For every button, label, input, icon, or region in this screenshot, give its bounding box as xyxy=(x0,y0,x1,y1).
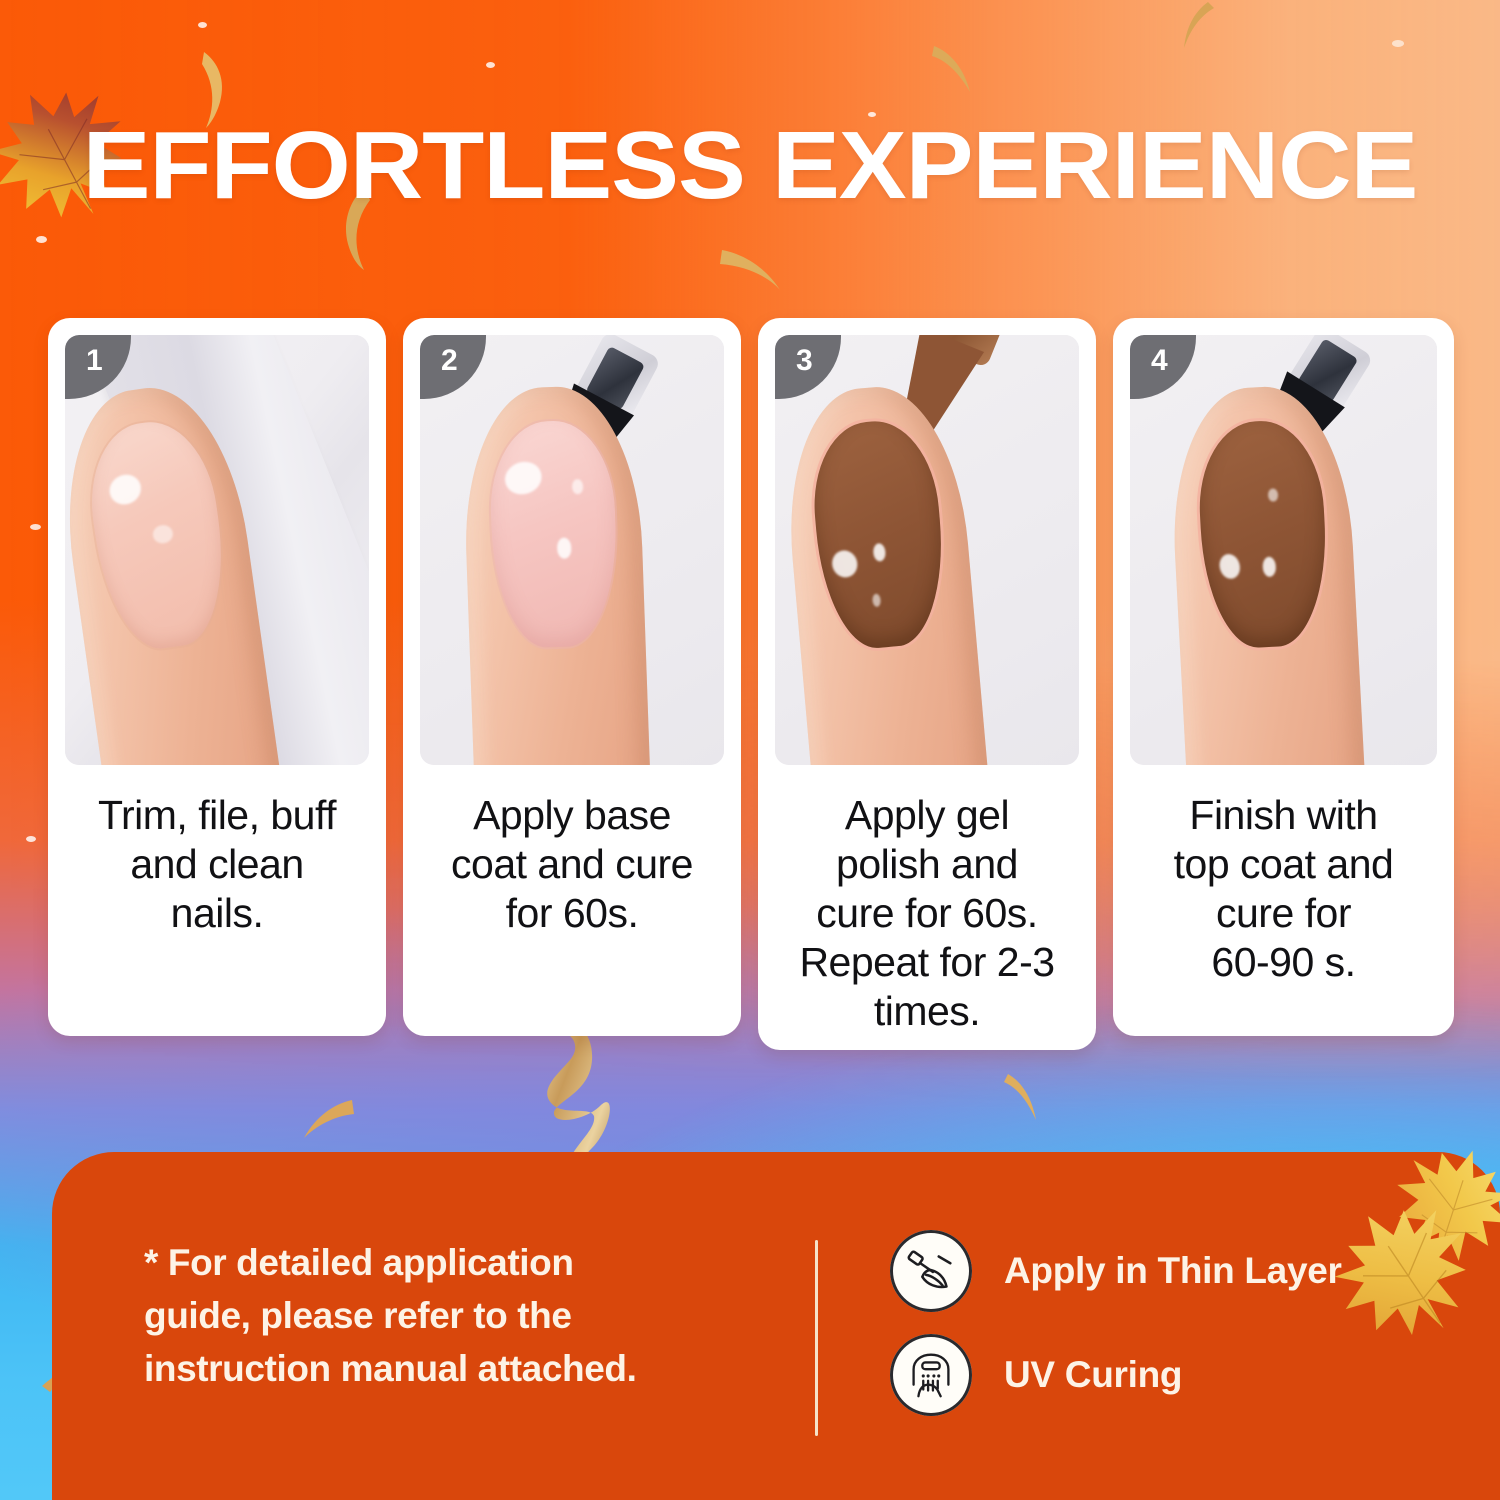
step-caption-1: Trim, file, buff and clean nails. xyxy=(65,791,369,938)
footer-divider xyxy=(815,1240,818,1436)
nail-plate xyxy=(488,418,619,649)
page-title: EFFORTLESS EXPERIENCE xyxy=(0,118,1500,214)
feature-label: UV Curing xyxy=(1004,1354,1182,1396)
nail-plate xyxy=(808,416,951,652)
step-photo-4: 4 xyxy=(1130,335,1437,765)
uv-lamp-icon xyxy=(890,1334,972,1416)
step-photo-3: 3 xyxy=(775,335,1079,765)
photo-scene xyxy=(65,335,369,765)
footer-panel: * For detailed application guide, please… xyxy=(52,1152,1500,1500)
step-caption-2: Apply base coat and cure for 60s. xyxy=(420,791,724,938)
nail-plate xyxy=(1195,417,1331,650)
photo-scene xyxy=(1130,335,1437,765)
step-card-3[interactable]: 3 Apply gel polish and cure for 60s. Rep… xyxy=(758,318,1096,1050)
finger xyxy=(779,380,997,765)
feature-apply-thin-layer: Apply in Thin Layer xyxy=(890,1230,1342,1312)
step-card-2[interactable]: 2 Apply base coat and cure for 60s. xyxy=(403,318,741,1036)
infographic-page: EFFORTLESS EXPERIENCE 1 Trim, file, buff… xyxy=(0,0,1500,1500)
finger xyxy=(1167,382,1370,765)
feature-uv-curing: UV Curing xyxy=(890,1334,1182,1416)
step-photo-2: 2 xyxy=(420,335,724,765)
step-card-1[interactable]: 1 Trim, file, buff and clean nails. xyxy=(48,318,386,1036)
nail-plate xyxy=(81,414,235,655)
photo-scene xyxy=(775,335,1079,765)
step-photo-1: 1 xyxy=(65,335,369,765)
step-card-4[interactable]: 4 Finish with top coat and cure for 60-9… xyxy=(1113,318,1454,1036)
finger xyxy=(460,384,653,765)
thin-layer-brush-icon xyxy=(890,1230,972,1312)
footer-note: * For detailed application guide, please… xyxy=(144,1236,764,1395)
step-caption-4: Finish with top coat and cure for 60-90 … xyxy=(1130,791,1437,987)
photo-scene xyxy=(420,335,724,765)
step-caption-3: Apply gel polish and cure for 60s. Repea… xyxy=(775,791,1079,1036)
feature-label: Apply in Thin Layer xyxy=(1004,1250,1342,1292)
